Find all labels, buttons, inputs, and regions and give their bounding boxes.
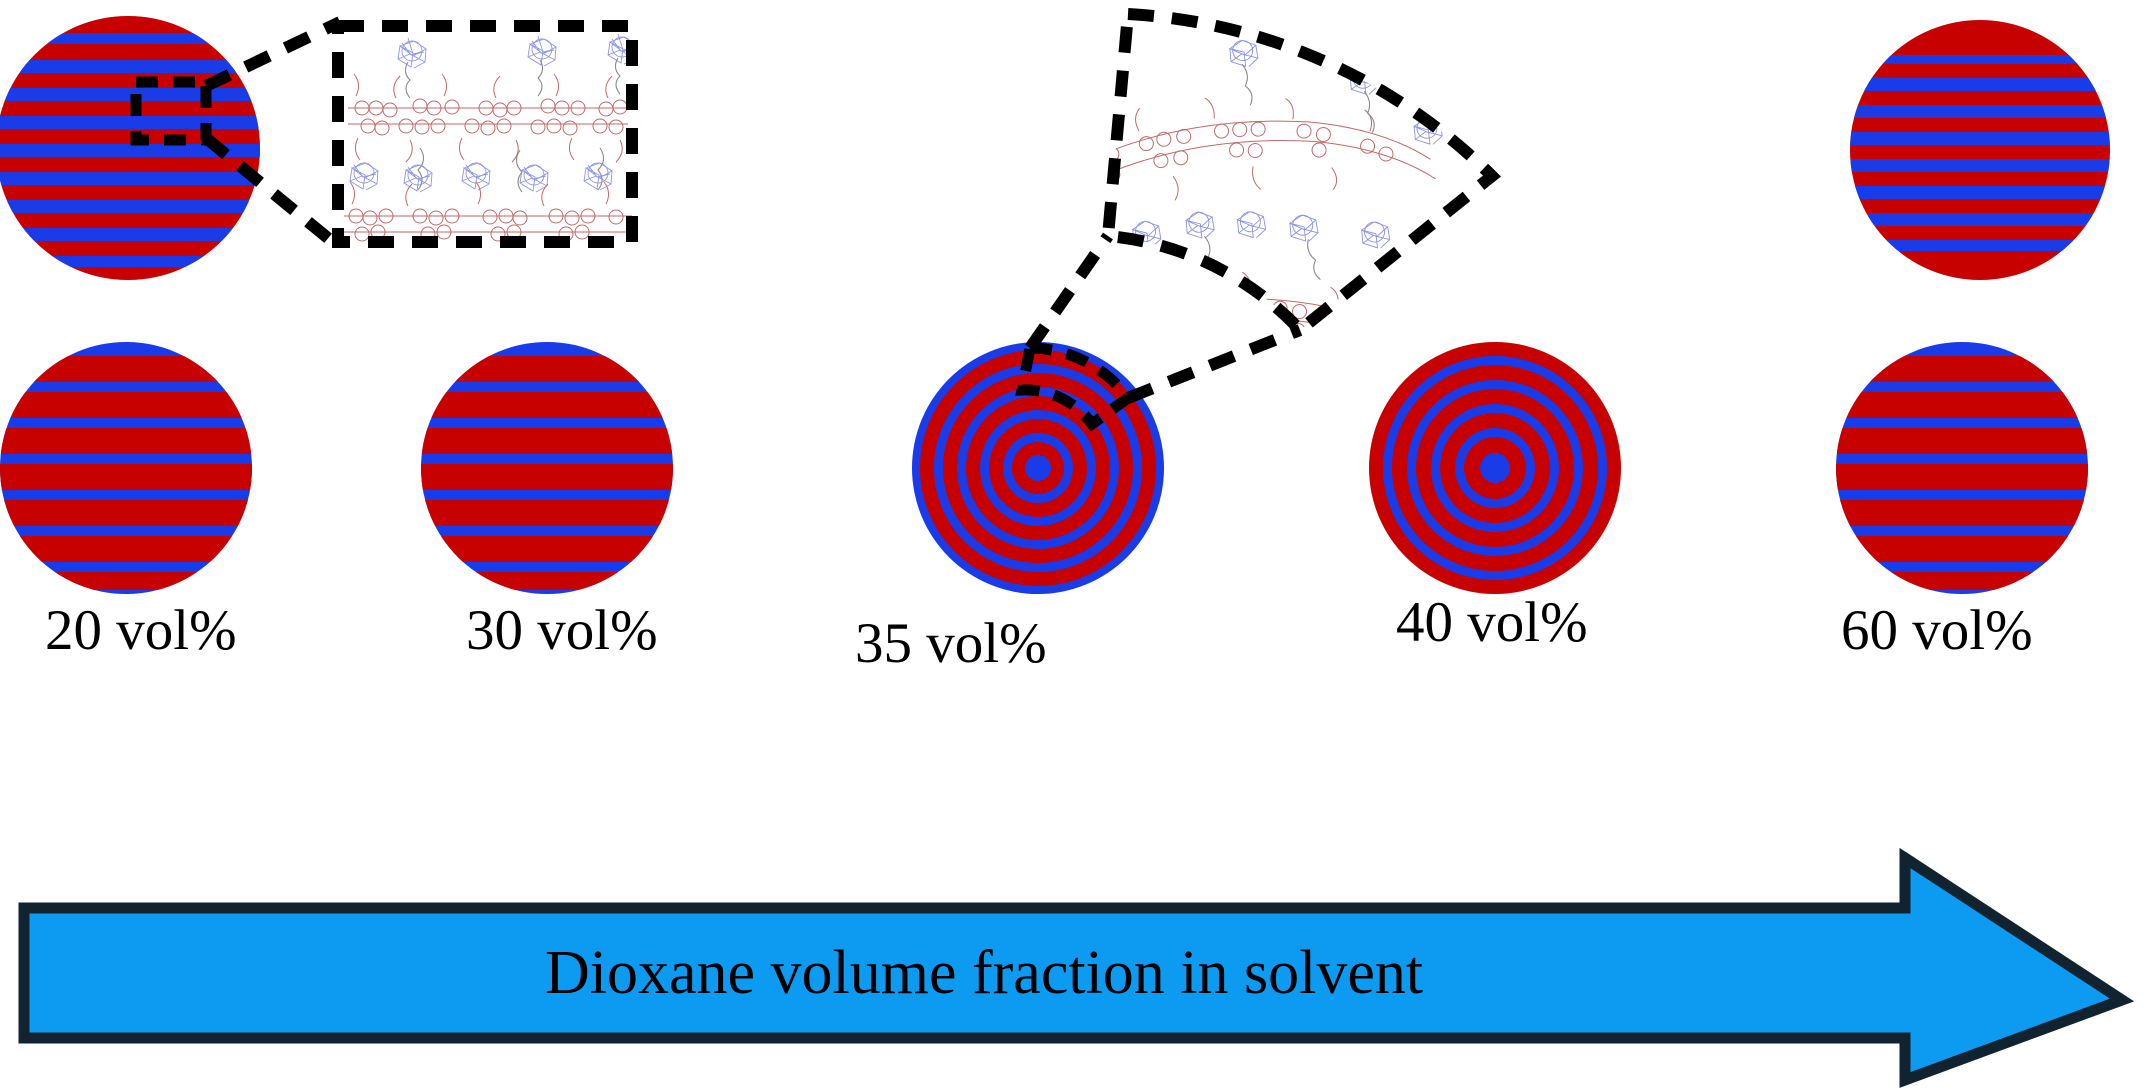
axis-arrow-label: Dioxane volume fraction in solvent [545,938,1423,1009]
vol-label-40: 40 vol% [1396,590,1588,655]
particle-40 [1369,342,1621,594]
inset-lamellar [338,26,636,242]
particle-top-left [0,16,280,280]
particle-30 [410,342,700,594]
particle-top-right [1840,20,2130,280]
vol-label-20: 20 vol% [45,598,237,663]
vol-label-60: 60 vol% [1841,598,2033,663]
vol-label-35: 35 vol% [855,611,1047,676]
particle-20 [0,342,280,594]
figure-canvas: 20 vol% 30 vol% 35 vol% 40 vol% 60 vol% … [0,0,2145,1090]
diagram-svg [0,0,2145,1090]
particle-60 [1825,342,2115,594]
particle-top-left-stripes [0,33,280,267]
particle-40-rings [1383,356,1607,580]
particle-35 [912,342,1164,594]
inset-lamellar-molecules [338,26,636,242]
vol-label-30: 30 vol% [466,598,658,663]
